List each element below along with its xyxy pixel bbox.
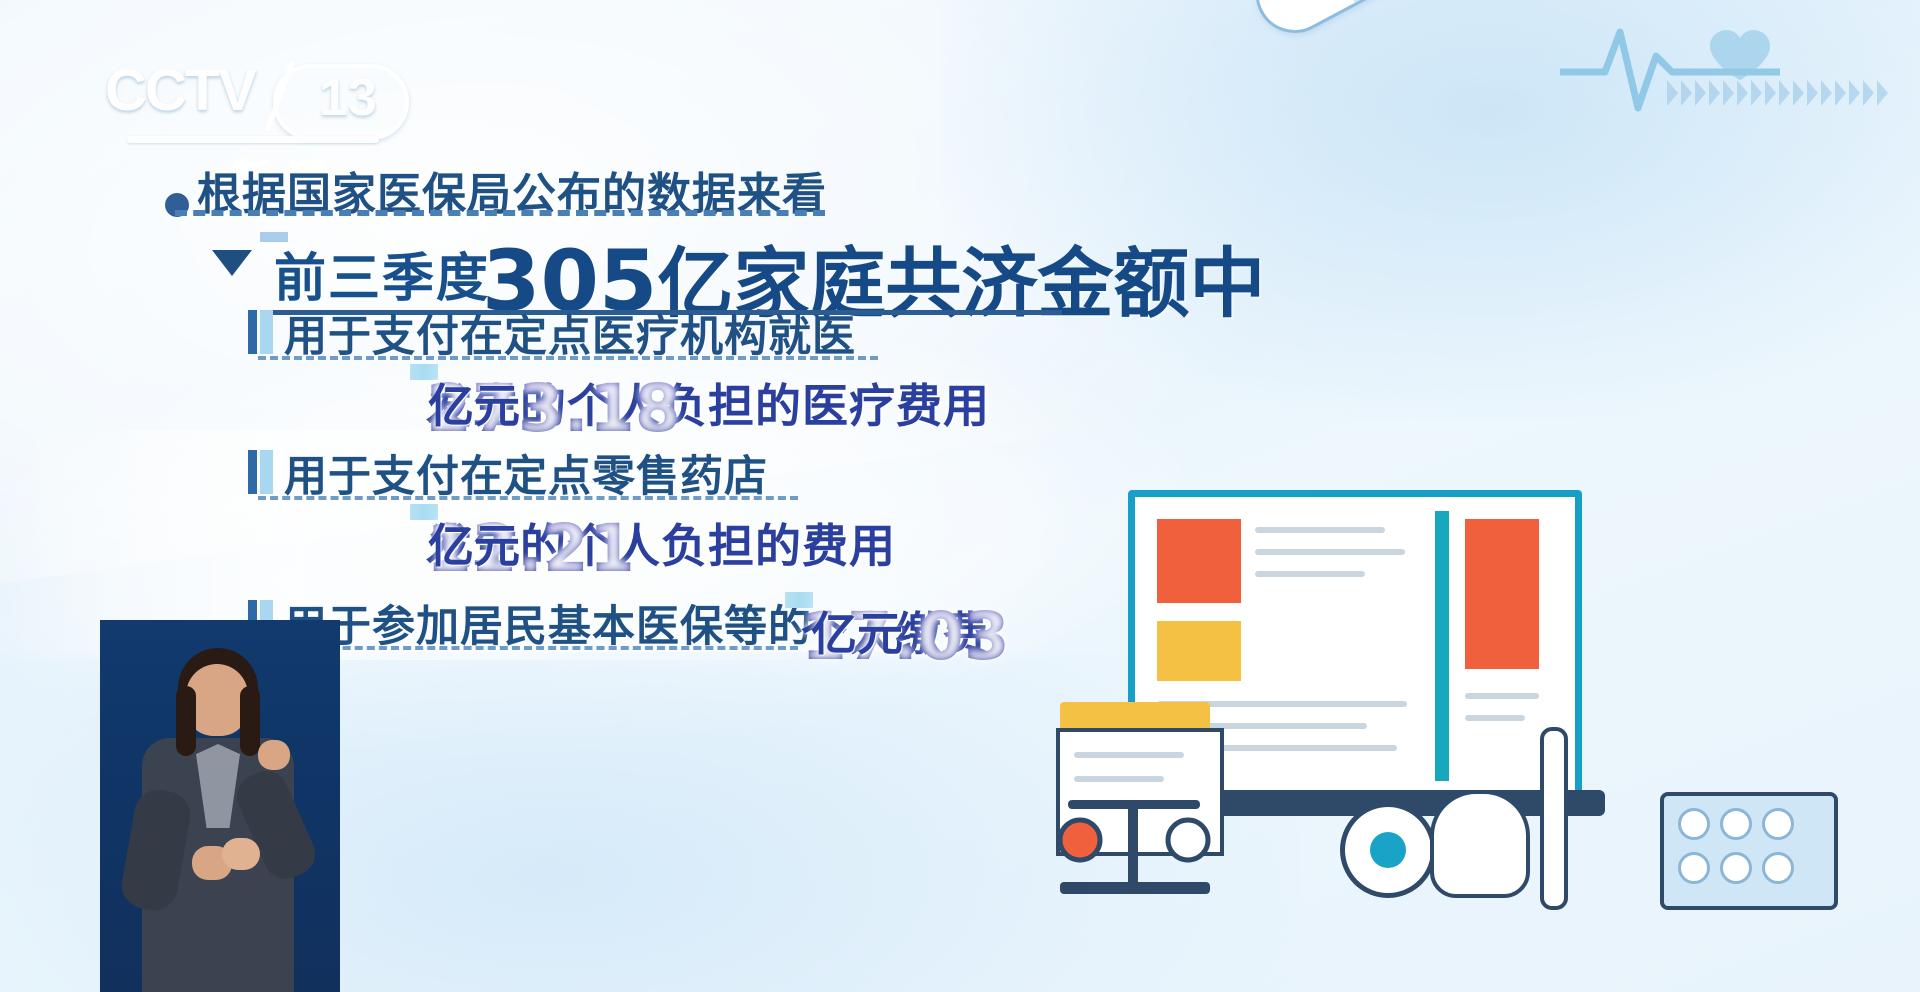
broadcast-screen: CCTV 13 新闻 根据国家医保局公布的数据来看 前三季度 305亿家庭共济金… [0,0,1920,992]
tooth-icon [1430,790,1530,898]
book-spine [1435,511,1449,781]
section-3-title: 用于参加居民基本医保等的 [284,592,812,654]
section-2-title: 用于支付在定点零售药店 [284,442,768,504]
chevron-right-icon [1863,80,1874,106]
balance-scale-icon [1050,764,1300,904]
chevron-right-icon [1821,80,1832,106]
section-1-title: 用于支付在定点医疗机构就医 [284,302,856,364]
presenter-hair-side-left [176,686,196,756]
eye-icon [1340,802,1436,898]
section-3-value-row: 个人缴费 17.03 亿元 [785,592,813,608]
section-1-value-row: 发生的个人负担的医疗费用 273.18 亿元 [410,364,438,380]
section-2-value-unit: 亿元 [428,510,520,576]
chevron-right-icon [1807,80,1818,106]
section-marker-bar-light [260,450,273,494]
section-marker-bar-light [260,310,273,354]
medical-illustration [1040,372,1920,992]
chevron-right-icon [1793,80,1804,106]
pill-blister-icon [1660,792,1838,910]
doc-line [1465,715,1525,721]
doc-block-orange [1157,519,1241,603]
doc-line [1255,527,1385,533]
doc-block-orange-2 [1465,519,1539,669]
logo-underline-bar [127,136,379,143]
presenter-hair-side-right [240,686,260,756]
thermometer-icon [1540,727,1568,910]
logo-cctv-text: CCTV [105,62,255,120]
heartbeat-line-icon [1560,12,1780,122]
eye-pupil [1370,832,1406,868]
chevron-right-icon [1877,80,1888,106]
presenter-hand-raised [258,740,290,770]
doc-block-yellow [1157,621,1241,681]
section-2-value-row: 发生的个人负担的费用 12.21 亿元 [410,504,438,520]
logo-channel-number: 13 [319,68,377,128]
section-1-value-unit: 亿元 [428,370,520,436]
period-tag-text: 前三季度 [274,236,490,311]
section-marker-bar [248,450,257,494]
period-tag: 前三季度 [260,232,288,242]
lead-line-dashed-rule [175,210,825,216]
section-marker-bar [248,310,257,354]
chevron-right-icon [1849,80,1860,106]
section-3-value-unit: 亿元 [811,598,903,664]
doc-line [1255,549,1405,555]
doc-line [1255,571,1365,577]
sign-language-presenter [100,620,340,992]
triangle-down-icon [212,250,252,276]
section-2-dashed-rule [258,496,798,500]
doc-line [1074,752,1184,758]
cctv13-news-logo: CCTV 13 新闻 [105,62,405,172]
section-1-dashed-rule [258,356,878,360]
doc-line [1465,693,1539,699]
chevron-right-icon [1779,80,1790,106]
chevron-right-icon [1835,80,1846,106]
presenter-hand-right [222,838,260,870]
